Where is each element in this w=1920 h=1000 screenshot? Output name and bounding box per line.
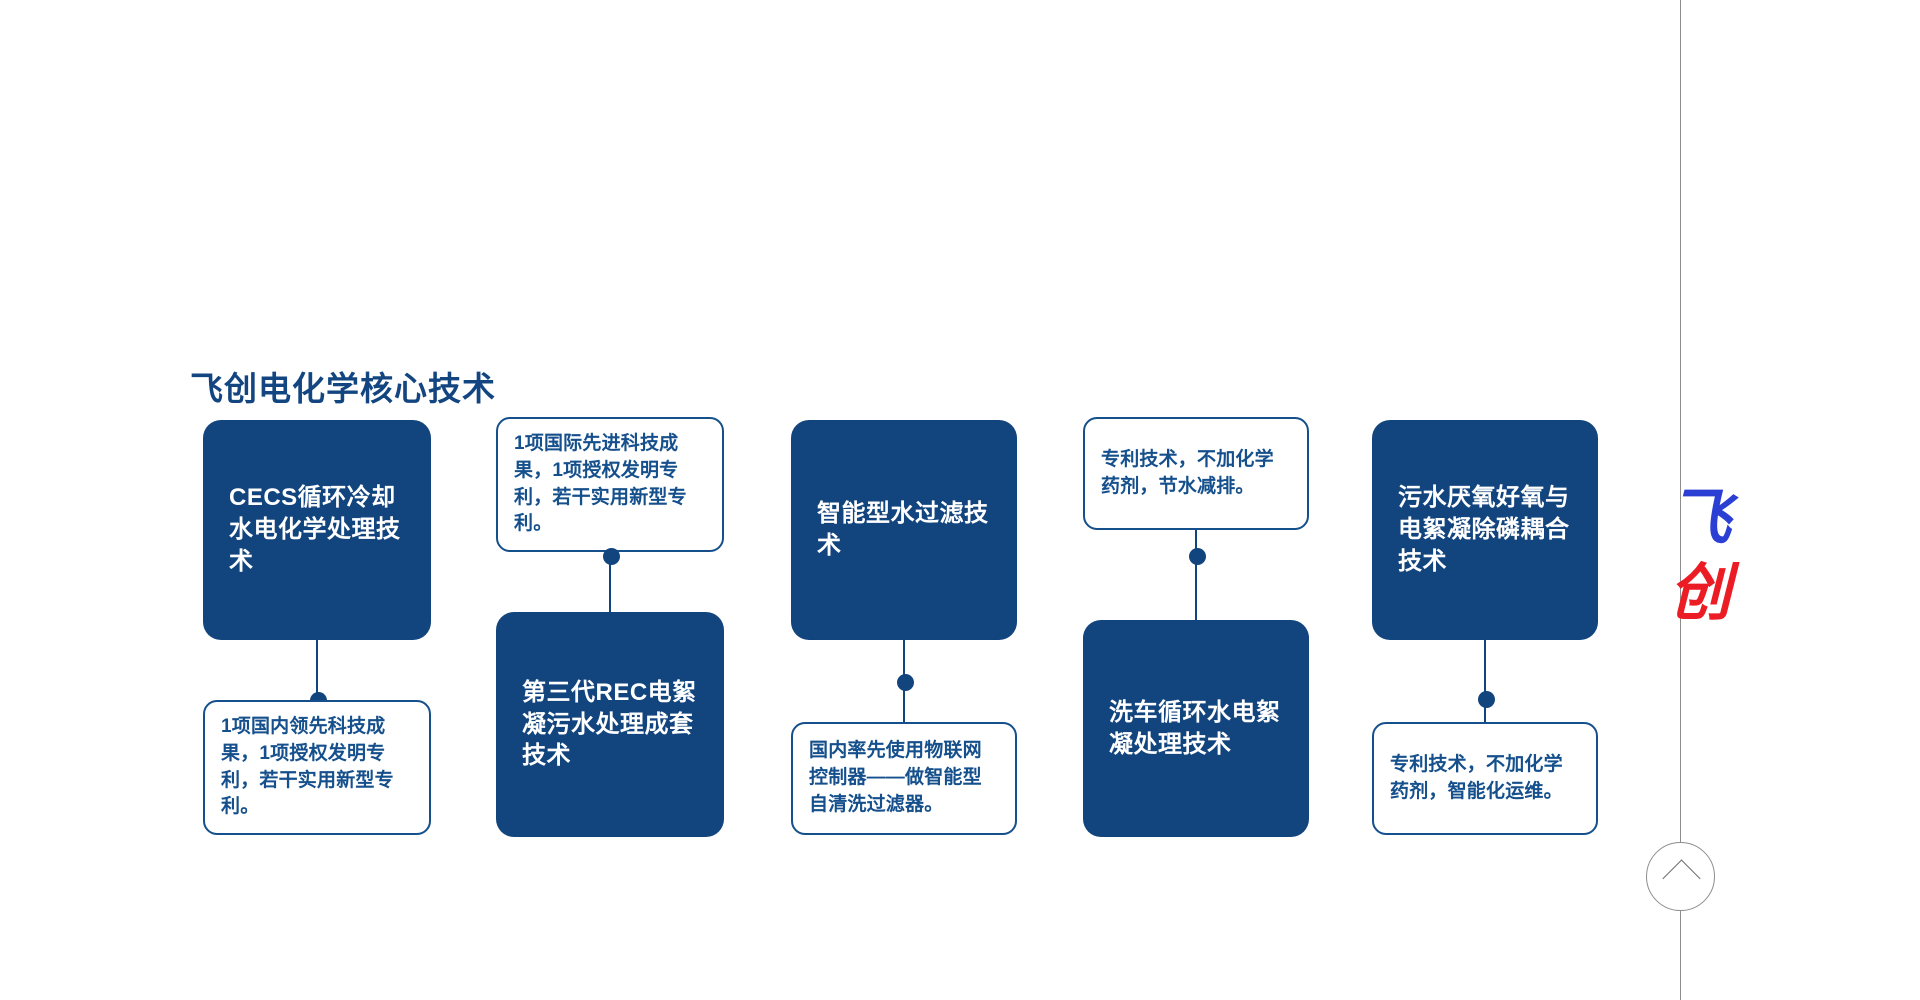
connector-line [316,640,318,700]
tech-card-car-wash[interactable]: 洗车循环水电絮凝处理技术 [1083,620,1309,837]
detail-card-label: 专利技术，不加化学药剂，智能化运维。 [1390,752,1580,806]
connector-line [1484,640,1486,722]
tech-card-label: 污水厌氧好氧与电絮凝除磷耦合技术 [1398,482,1572,577]
connector-dot [1478,691,1495,708]
detail-card-label: 1项国内领先科技成果，1项授权发明专利，若干实用新型专利。 [221,714,413,822]
detail-card-cecs[interactable]: 1项国内领先科技成果，1项授权发明专利，若干实用新型专利。 [203,700,431,835]
detail-card-car-wash[interactable]: 专利技术，不加化学药剂，节水减排。 [1083,417,1309,530]
detail-card-rec[interactable]: 1项国际先进科技成果，1项授权发明专利，若干实用新型专利。 [496,417,724,552]
detail-card-label: 1项国际先进科技成果，1项授权发明专利，若干实用新型专利。 [514,431,706,539]
connector-line [1195,530,1197,620]
detail-card-label: 国内率先使用物联网控制器——做智能型自清洗过滤器。 [809,738,999,819]
tech-card-smart-filter[interactable]: 智能型水过滤技术 [791,420,1017,640]
tech-card-label: 第三代REC电絮凝污水处理成套技术 [522,677,698,772]
detail-card-label: 专利技术，不加化学药剂，节水减排。 [1101,447,1291,501]
tech-card-rec[interactable]: 第三代REC电絮凝污水处理成套技术 [496,612,724,837]
tech-card-label: 洗车循环水电絮凝处理技术 [1109,697,1283,760]
tech-card-cecs[interactable]: CECS循环冷却水电化学处理技术 [203,420,431,640]
detail-card-anaerobic-phosphorus[interactable]: 专利技术，不加化学药剂，智能化运维。 [1372,722,1598,835]
detail-card-smart-filter[interactable]: 国内率先使用物联网控制器——做智能型自清洗过滤器。 [791,722,1017,835]
connector-dot [603,548,620,565]
technology-diagram: CECS循环冷却水电化学处理技术 1项国内领先科技成果，1项授权发明专利，若干实… [0,0,1920,1000]
connector-dot [897,674,914,691]
connector-dot [1189,548,1206,565]
tech-card-label: 智能型水过滤技术 [817,498,991,561]
tech-card-label: CECS循环冷却水电化学处理技术 [229,482,405,577]
tech-card-anaerobic-phosphorus[interactable]: 污水厌氧好氧与电絮凝除磷耦合技术 [1372,420,1598,640]
